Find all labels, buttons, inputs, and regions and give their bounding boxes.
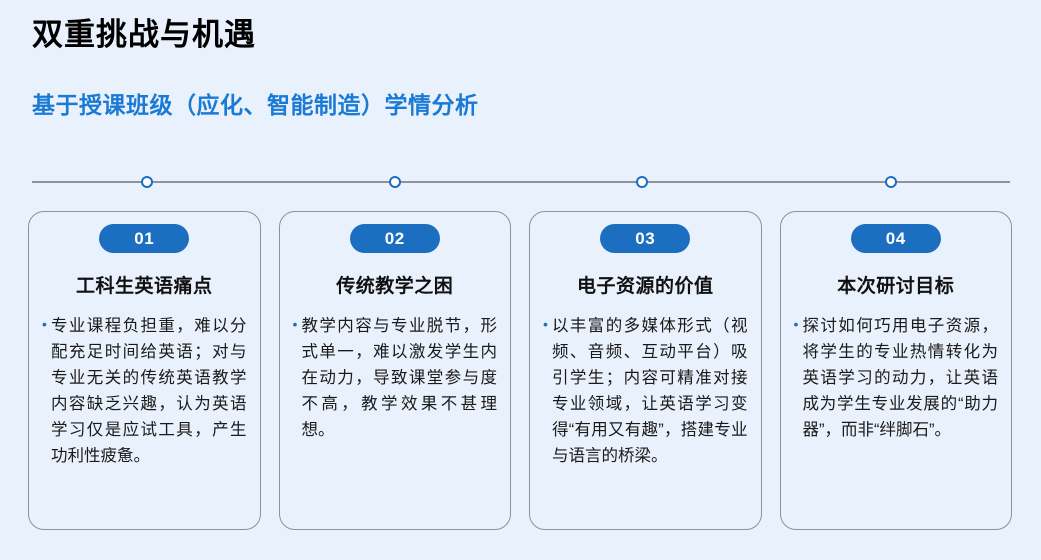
card-heading-04: 本次研讨目标 [837,276,954,299]
card-badge-04: 04 [851,224,941,253]
card-02[interactable]: 02 传统教学之困 教学内容与专业脱节，形式单一，难以激发学生内在动力，导致课堂… [279,211,512,530]
timeline [32,176,1010,190]
timeline-marker-02 [389,176,401,188]
timeline-marker-04 [885,176,897,188]
card-body-01: 专业课程负担重，难以分配充足时间给英语；对与专业无关的传统英语教学内容缺乏兴趣，… [42,313,247,469]
card-badge-01: 01 [99,224,189,253]
timeline-marker-03 [636,176,648,188]
card-heading-02: 传统教学之困 [336,276,453,299]
card-body-02: 教学内容与专业脱节，形式单一，难以激发学生内在动力，导致课堂参与度不高，教学效果… [293,313,498,443]
card-heading-01: 工科生英语痛点 [76,276,213,299]
cards-row: 01 工科生英语痛点 专业课程负担重，难以分配充足时间给英语；对与专业无关的传统… [28,211,1012,530]
card-01[interactable]: 01 工科生英语痛点 专业课程负担重，难以分配充足时间给英语；对与专业无关的传统… [28,211,261,530]
card-body-03: 以丰富的多媒体形式（视频、音频、互动平台）吸引学生；内容可精准对接专业领域，让英… [543,313,748,469]
timeline-line [32,181,1010,183]
card-body-04: 探讨如何巧用电子资源，将学生的专业热情转化为英语学习的动力，让英语成为学生专业发… [794,313,999,443]
card-badge-03: 03 [600,224,690,253]
card-04[interactable]: 04 本次研讨目标 探讨如何巧用电子资源，将学生的专业热情转化为英语学习的动力，… [780,211,1013,530]
card-heading-03: 电子资源的价值 [577,276,714,299]
timeline-marker-01 [141,176,153,188]
card-badge-02: 02 [350,224,440,253]
page-title: 双重挑战与机遇 [32,16,256,53]
page-subtitle: 基于授课班级（应化、智能制造）学情分析 [32,92,479,120]
card-03[interactable]: 03 电子资源的价值 以丰富的多媒体形式（视频、音频、互动平台）吸引学生；内容可… [529,211,762,530]
